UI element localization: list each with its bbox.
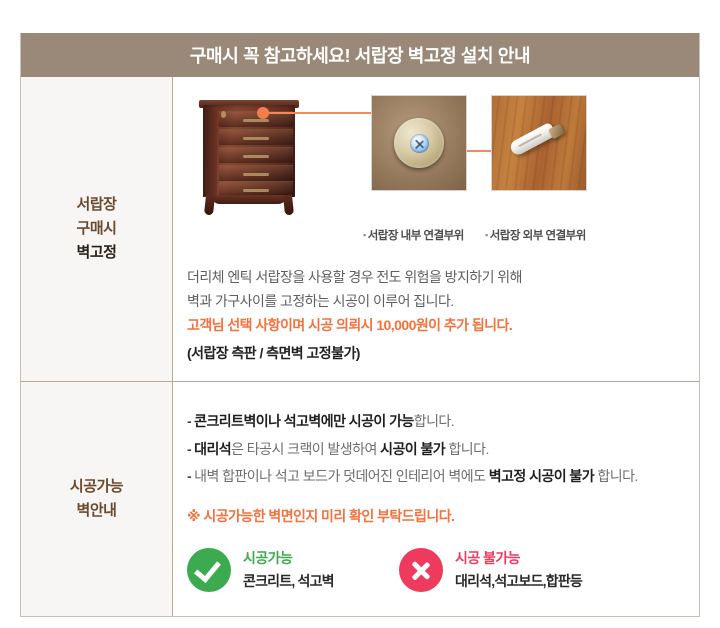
- section-1-label-line-3: 벽고정: [77, 241, 117, 265]
- dresser-keyhole-icon: [221, 111, 226, 118]
- caption-inner-connection-text: 서랍장 내부 연결부위: [368, 230, 464, 242]
- wall-fixing-guide-table: 구매시 꼭 참고하세요! 서랍장 벽고정 설치 안내 서랍장 구매시 벽고정: [20, 33, 700, 617]
- paragraph-line-2: 벽과 가구사이를 고정하는 시공이 이루어 집니다.: [187, 289, 699, 313]
- section-wall-compatibility: 시공가능 벽안내 -콘크리트벽이나 석고벽에만 시공이 가능합니다. -대리석은…: [21, 381, 699, 616]
- verdict-allowed: 시공가능 콘크리트, 석고벽: [187, 548, 399, 592]
- screw-head-shape: [410, 134, 429, 153]
- check-circle-icon: [187, 548, 231, 592]
- caption-bullet-icon: ▪: [363, 230, 366, 240]
- section-2-content: -콘크리트벽이나 석고벽에만 시공이 가능합니다. -대리석은 타공시 크랙이 …: [173, 382, 699, 616]
- check-mark-icon: [194, 555, 221, 583]
- washer-shape: [394, 118, 444, 168]
- verdict-not-allowed-text: 시공 불가능 대리석,석고보드,합판등: [455, 548, 582, 592]
- bullet-dash-icon: -: [187, 413, 191, 429]
- dresser-drawer: [219, 111, 293, 127]
- confirm-wall-notice: ※ 시공가능한 벽면인지 미리 확인 부탁드립니다.: [187, 506, 699, 526]
- verdict-not-allowed: 시공 불가능 대리석,석고보드,합판등: [399, 548, 582, 592]
- verdict-allowed-title: 시공가능: [243, 548, 334, 569]
- price-highlight-text: 고객님 선택 사항이며 시공 의뢰시 10,000원이 추가 됩니다.: [187, 313, 699, 337]
- photo-captions: ▪서랍장 내부 연결부위 ▪서랍장 외부 연결부위: [173, 227, 699, 247]
- wall-rule-3: -내벽 합판이나 석고 보드가 덧데어진 인테리어 벽에도 벽고정 시공이 불가…: [187, 463, 699, 490]
- section-2-label-line-2: 벽안내: [77, 499, 117, 523]
- wall-rule-3-strong: 벽고정 시공이 불가: [489, 468, 594, 484]
- verdict-not-allowed-subtitle: 대리석,석고보드,합판등: [455, 571, 582, 592]
- drawer-pull-icon: [243, 155, 269, 158]
- caption-inner-connection: ▪서랍장 내부 연결부위: [363, 227, 464, 243]
- caption-bullet-icon: ▪: [485, 230, 488, 240]
- caption-outer-connection-text: 서랍장 외부 연결부위: [490, 230, 586, 242]
- guide-header-title: 구매시 꼭 참고하세요! 서랍장 벽고정 설치 안내: [21, 33, 699, 77]
- verdict-group: 시공가능 콘크리트, 석고벽 시공 불가능 대리석,석고보드,합판등: [187, 548, 699, 592]
- cross-circle-icon: [399, 548, 443, 592]
- wall-rule-2-strong-2: 시공이 불가: [380, 441, 445, 457]
- drawer-pull-icon: [243, 189, 269, 192]
- bullet-dash-icon: -: [187, 441, 191, 457]
- dresser-legs: [203, 195, 295, 217]
- cross-mark-icon: [411, 561, 430, 580]
- bullet-dash-icon: -: [187, 468, 191, 484]
- drawer-pull-icon: [243, 137, 269, 140]
- wall-rule-1-strong: 콘크리트벽이나 석고벽에만 시공이 가능: [194, 413, 414, 429]
- drawer-pull-icon: [243, 119, 269, 122]
- inner-connection-photo: [371, 95, 467, 191]
- wall-rule-2-strong: 대리석: [194, 441, 231, 457]
- restriction-note-text: (서랍장 측판 / 측면벽 고정불가): [187, 341, 699, 365]
- wall-rule-2-mid: 은 타공시 크랙이 발생하여: [231, 441, 380, 457]
- wall-rule-3-rest: 합니다.: [594, 468, 638, 484]
- dresser-apron: [211, 195, 287, 204]
- outer-connection-photo: [491, 95, 587, 191]
- section-1-label-line-1: 서랍장: [77, 193, 117, 217]
- phillips-cross-icon: [415, 139, 424, 148]
- section-dresser-wall-fixing: 서랍장 구매시 벽고정: [21, 77, 699, 381]
- verdict-allowed-subtitle: 콘크리트, 석고벽: [243, 571, 334, 592]
- dresser-side-panel: [203, 107, 217, 197]
- wall-rule-1: -콘크리트벽이나 석고벽에만 시공이 가능합니다.: [187, 408, 699, 435]
- caption-outer-connection: ▪서랍장 외부 연결부위: [485, 227, 586, 243]
- wall-rule-1-rest: 합니다.: [414, 413, 454, 429]
- antique-dresser-photo: [191, 91, 309, 219]
- dresser-leg: [204, 195, 215, 216]
- drawer-pull-icon: [243, 173, 269, 176]
- section-1-label: 서랍장 구매시 벽고정: [21, 77, 173, 381]
- photo-strip: [173, 91, 699, 223]
- section-1-content: ▪서랍장 내부 연결부위 ▪서랍장 외부 연결부위 더리체 엔틱 서랍장을 사용…: [173, 77, 699, 381]
- wall-rule-2: -대리석은 타공시 크랙이 발생하여 시공이 불가 합니다.: [187, 436, 699, 463]
- guide-page: 구매시 꼭 참고하세요! 서랍장 벽고정 설치 안내 서랍장 구매시 벽고정: [0, 0, 720, 628]
- paragraph-line-1: 더리체 엔틱 서랍장을 사용할 경우 전도 위험을 방지하기 위해: [187, 265, 699, 289]
- dresser-drawer: [219, 129, 293, 145]
- section-2-label: 시공가능 벽안내: [21, 382, 173, 616]
- section-1-label-line-2: 구매시: [77, 217, 117, 241]
- dresser-drawer: [219, 147, 293, 163]
- section-2-label-line-1: 시공가능: [70, 475, 123, 499]
- verdict-not-allowed-title: 시공 불가능: [455, 548, 582, 569]
- wall-rule-2-rest: 합니다.: [445, 441, 489, 457]
- wall-rule-3-plain: 내벽 합판이나 석고 보드가 덧데어진 인테리어 벽에도: [194, 468, 489, 484]
- dresser-drawer: [219, 165, 293, 181]
- verdict-allowed-text: 시공가능 콘크리트, 석고벽: [243, 548, 334, 592]
- dresser-leg: [283, 195, 294, 216]
- section-1-body-text: 더리체 엔틱 서랍장을 사용할 경우 전도 위험을 방지하기 위해 벽과 가구사…: [173, 247, 699, 365]
